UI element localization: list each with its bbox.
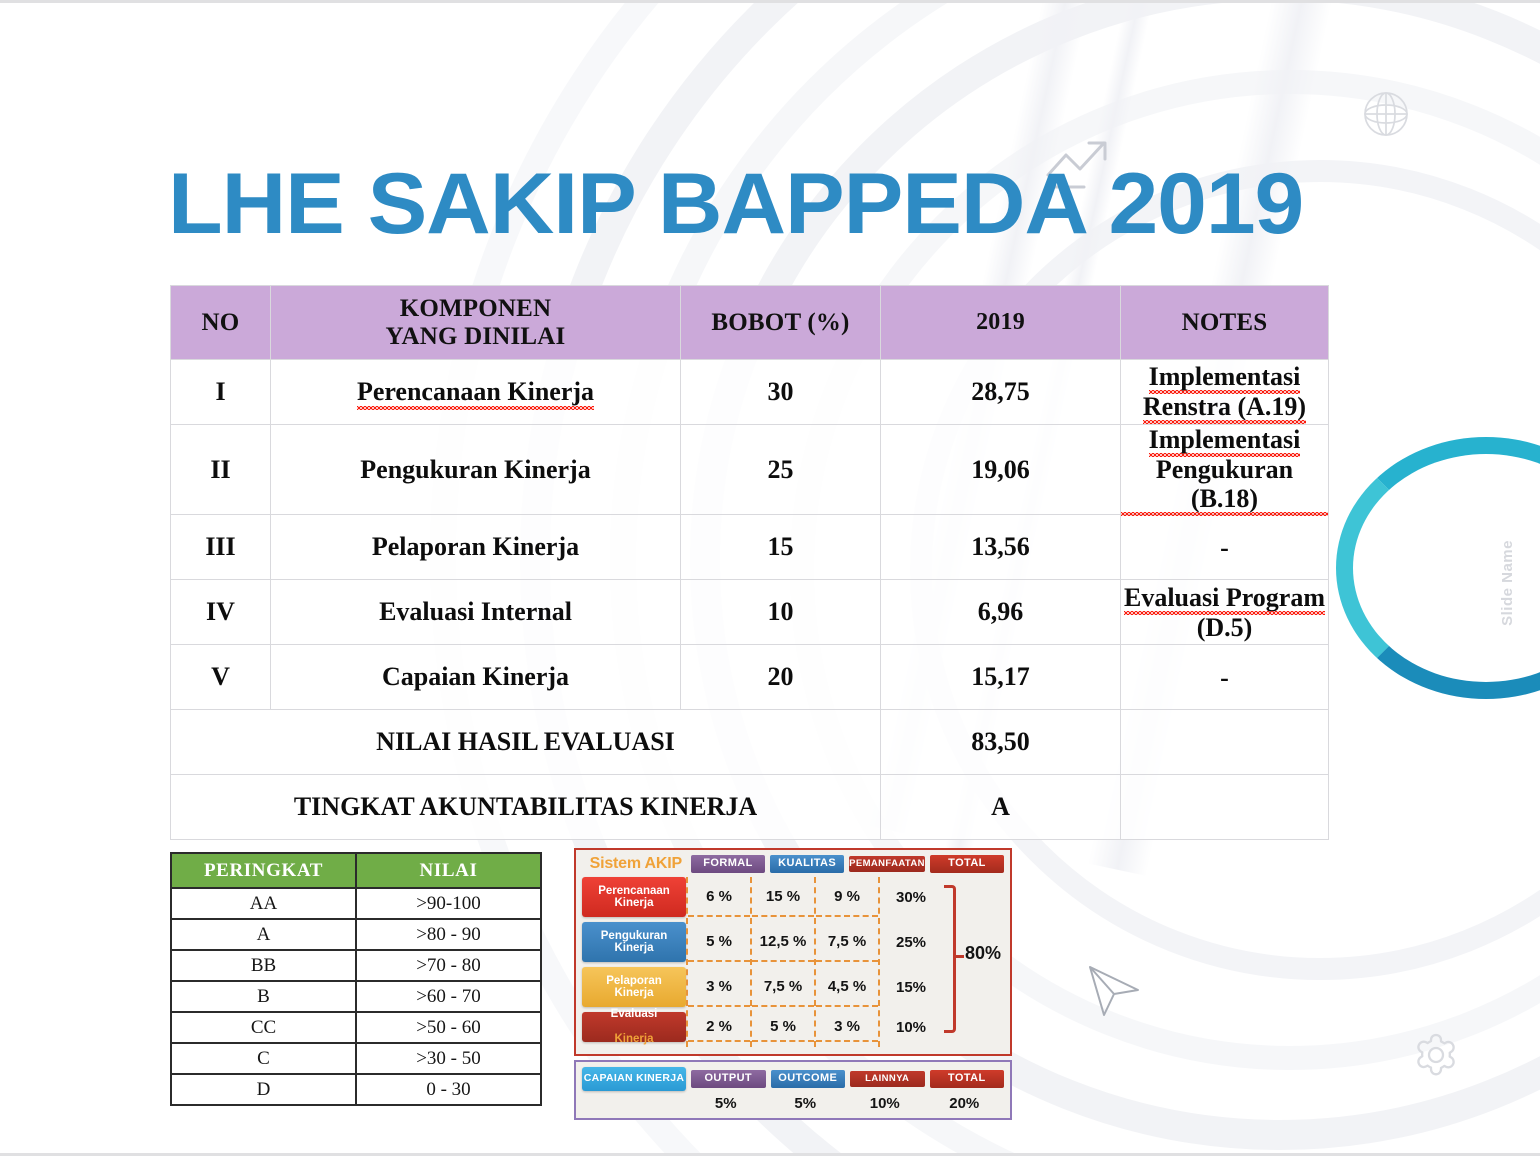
akip-bracket-total: 80% [965,943,1001,964]
cell-no: V [171,645,271,710]
cell-no: III [171,515,271,580]
column-header-bobot: BOBOT (%) [681,286,881,360]
table-row: CC >50 - 60 [171,1012,541,1043]
cell-peringkat: CC [171,1012,356,1043]
akip-label-pelaporan: Pelaporan Kinerja [582,967,686,1007]
akip-label-pengukuran: Pengukuran Kinerja [582,922,686,962]
akip-bottom-panel: CAPAIAN KINERJA OUTPUT OUTCOME LAINNYA T… [574,1060,1012,1120]
cell-notes: - [1121,645,1329,710]
slide-name-label: Slide Name [1499,540,1516,626]
column-header-no: NO [171,286,271,360]
cell-peringkat: B [171,981,356,1012]
cell-bobot: 15 [681,515,881,580]
cell-bobot: 30 [681,360,881,425]
cell-komponen: Perencanaan Kinerja [271,360,681,425]
cell-nilai: >60 - 70 [356,981,541,1012]
akip-column-formal: FORMAL [691,855,765,873]
akip-capaian-label-box: CAPAIAN KINERJA [582,1067,686,1091]
cell-notes: - [1121,515,1329,580]
cell-komponen: Pelaporan Kinerja [271,515,681,580]
column-header-nilai: NILAI [356,853,541,888]
akip-bottom-header: CAPAIAN KINERJA OUTPUT OUTCOME LAINNYA T… [582,1067,1004,1091]
cell-bobot: 10 [681,580,881,645]
cell-nilai: 28,75 [881,360,1121,425]
cell-no: II [171,425,271,515]
akip-label-line1: Evaluasi [611,1008,658,1020]
akip-bottom-column-lainnya: LAINNYA [850,1071,925,1088]
cell-peringkat: D [171,1074,356,1105]
globe-icon [1360,88,1412,145]
akip-cell: 5 % [752,1012,814,1042]
akip-label-line2: Kinerja [615,1033,654,1045]
komponen-header-line1: KOMPONEN [271,295,680,323]
notes-line1: Implementasi [1149,362,1301,392]
table-row: C >30 - 50 [171,1043,541,1074]
column-header-2019: 2019 [881,286,1121,360]
akip-bottom-spacer [582,1095,686,1112]
akip-bottom-values: 5% 5% 10% 20% [582,1095,1004,1112]
summary-notes-blank [1121,710,1329,775]
akip-bottom-column-total: TOTAL [930,1070,1005,1088]
summary-row: TINGKAT AKUNTABILITAS KINERJA A [171,775,1329,840]
akip-cell: 12,5 % [752,922,814,962]
cell-peringkat: C [171,1043,356,1074]
akip-cell: 4,5 % [816,967,878,1007]
table-row: V Capaian Kinerja 20 15,17 - [171,645,1329,710]
akip-title: Sistem AKIP [582,855,686,873]
akip-bracket-icon [944,885,956,1033]
table-row: AA >90-100 [171,888,541,919]
akip-cell-total: 25% [880,922,942,962]
akip-bottom-value: 20% [925,1095,1005,1112]
table-row: D 0 - 30 [171,1074,541,1105]
notes-line2: Pengukuran (B.18) [1121,455,1328,514]
akip-label-line2: Kinerja [615,897,654,909]
akip-cell: 9 % [816,877,878,917]
table-header-row: NO KOMPONEN YANG DINILAI BOBOT (%) 2019 … [171,286,1329,360]
cell-komponen-text: Perencanaan Kinerja [357,377,594,408]
akip-column-pemanfaatan: PEMANFAATAN [849,856,925,873]
cell-nilai: >80 - 90 [356,919,541,950]
akip-label-perencanaan: Perencanaan Kinerja [582,877,686,917]
akip-bottom-value: 5% [766,1095,846,1112]
column-header-notes: NOTES [1121,286,1329,360]
akip-label-line1: Perencanaan [598,885,670,897]
cell-komponen-text: Capaian Kinerja [382,662,569,691]
akip-label-line2: Kinerja [615,987,654,999]
akip-bracket-group: 80% [942,877,1004,1047]
akip-cell: 7,5 % [752,967,814,1007]
akip-bottom-value: 10% [845,1095,925,1112]
cell-peringkat: BB [171,950,356,981]
cell-nilai: >30 - 50 [356,1043,541,1074]
akip-body: Perencanaan Kinerja Pengukuran Kinerja P… [582,877,1004,1047]
cell-nilai: 15,17 [881,645,1121,710]
table-row: BB >70 - 80 [171,950,541,981]
akip-label-line1: Pengukuran [601,930,667,942]
page-title: LHE SAKIP BAPPEDA 2019 [168,155,1303,254]
notes-line2: Renstra (A.19) [1143,392,1306,422]
cell-nilai: >90-100 [356,888,541,919]
summary-label-nilai-hasil: NILAI HASIL EVALUASI [171,710,881,775]
cell-komponen: Pengukuran Kinerja [271,425,681,515]
cell-nilai: 6,96 [881,580,1121,645]
akip-row-labels: Perencanaan Kinerja Pengukuran Kinerja P… [582,877,686,1047]
akip-bottom-value: 5% [686,1095,766,1112]
akip-bottom-column-output: OUTPUT [691,1070,766,1088]
table-row: IV Evaluasi Internal 10 6,96 Evaluasi Pr… [171,580,1329,645]
cell-notes: Implementasi Renstra (A.19) [1121,360,1329,425]
cell-notes: Evaluasi Program (D.5) [1121,580,1329,645]
akip-value-grid: 6 % 5 % 3 % 2 % 15 % 12,5 % 7,5 % 5 % 9 … [686,877,1004,1047]
akip-cell: 5 % [688,922,750,962]
cell-komponen: Evaluasi Internal [271,580,681,645]
notes-line1: Evaluasi Program [1124,583,1325,613]
peringkat-nilai-table: PERINGKAT NILAI AA >90-100 A >80 - 90 BB… [170,852,542,1106]
summary-row: NILAI HASIL EVALUASI 83,50 [171,710,1329,775]
akip-column-total: TOTAL [930,855,1004,873]
cell-komponen-text: Evaluasi Internal [379,597,572,626]
akip-bottom-column-outcome: OUTCOME [771,1070,846,1088]
cell-notes: Implementasi Pengukuran (B.18) [1121,425,1329,515]
summary-value-tingkat: A [881,775,1121,840]
akip-cell: 15 % [752,877,814,917]
summary-notes-blank [1121,775,1329,840]
cell-bobot: 25 [681,425,881,515]
cell-nilai: 13,56 [881,515,1121,580]
cell-peringkat: AA [171,888,356,919]
table-row: I Perencanaan Kinerja 30 28,75 Implement… [171,360,1329,425]
akip-capaian-label: CAPAIAN KINERJA [582,1067,686,1091]
table-row: A >80 - 90 [171,919,541,950]
akip-cell: 6 % [688,877,750,917]
cell-no: IV [171,580,271,645]
akip-header-row: Sistem AKIP FORMAL KUALITAS PEMANFAATAN … [582,855,1004,873]
gear-icon [1409,1029,1463,1088]
akip-cell-total: 30% [880,877,942,917]
summary-value-nilai-hasil: 83,50 [881,710,1121,775]
cell-peringkat: A [171,919,356,950]
table-row: III Pelaporan Kinerja 15 13,56 - [171,515,1329,580]
akip-col-pemanfaatan-values: 9 % 7,5 % 4,5 % 3 % [814,877,880,1047]
notes-line2: (D.5) [1197,613,1253,642]
akip-label-line1: Pelaporan [606,975,662,987]
column-header-peringkat: PERINGKAT [171,853,356,888]
column-header-komponen: KOMPONEN YANG DINILAI [271,286,681,360]
table-row: B >60 - 70 [171,981,541,1012]
akip-cell: 3 % [816,1012,878,1042]
akip-label-line2: Kinerja [615,942,654,954]
akip-col-formal-values: 6 % 5 % 3 % 2 % [686,877,750,1047]
cell-nilai: >70 - 80 [356,950,541,981]
send-icon [1086,963,1144,1024]
akip-column-kualitas: KUALITAS [770,855,844,873]
table-row: II Pengukuran Kinerja 25 19,06 Implement… [171,425,1329,515]
akip-cell: 3 % [688,967,750,1007]
cell-komponen-text: Pelaporan Kinerja [372,532,579,561]
akip-cell-total: 10% [880,1012,942,1042]
sistem-akip-diagram: Sistem AKIP FORMAL KUALITAS PEMANFAATAN … [574,848,1012,1120]
cell-nilai: 0 - 30 [356,1074,541,1105]
akip-cell-total: 15% [880,967,942,1007]
cell-nilai: >50 - 60 [356,1012,541,1043]
main-evaluation-table: NO KOMPONEN YANG DINILAI BOBOT (%) 2019 … [170,285,1328,840]
akip-bracket-stem [956,955,964,958]
peringkat-header-row: PERINGKAT NILAI [171,853,541,888]
akip-col-total-values: 30% 25% 15% 10% [880,877,942,1047]
akip-top-panel: Sistem AKIP FORMAL KUALITAS PEMANFAATAN … [574,848,1012,1056]
slide-canvas: Slide Name LHE SAKIP BAPPEDA 2 [0,0,1540,1156]
akip-cell: 7,5 % [816,922,878,962]
akip-col-kualitas-values: 15 % 12,5 % 7,5 % 5 % [750,877,814,1047]
cell-no: I [171,360,271,425]
komponen-header-line2: YANG DINILAI [271,323,680,351]
akip-cell: 2 % [688,1012,750,1042]
notes-line1: Implementasi [1149,425,1301,455]
akip-label-evaluasi: Evaluasi Kinerja [582,1012,686,1042]
cell-komponen: Capaian Kinerja [271,645,681,710]
cell-bobot: 20 [681,645,881,710]
cell-nilai: 19,06 [881,425,1121,515]
cell-komponen-text: Pengukuran Kinerja [360,455,590,484]
summary-label-tingkat: TINGKAT AKUNTABILITAS KINERJA [171,775,881,840]
